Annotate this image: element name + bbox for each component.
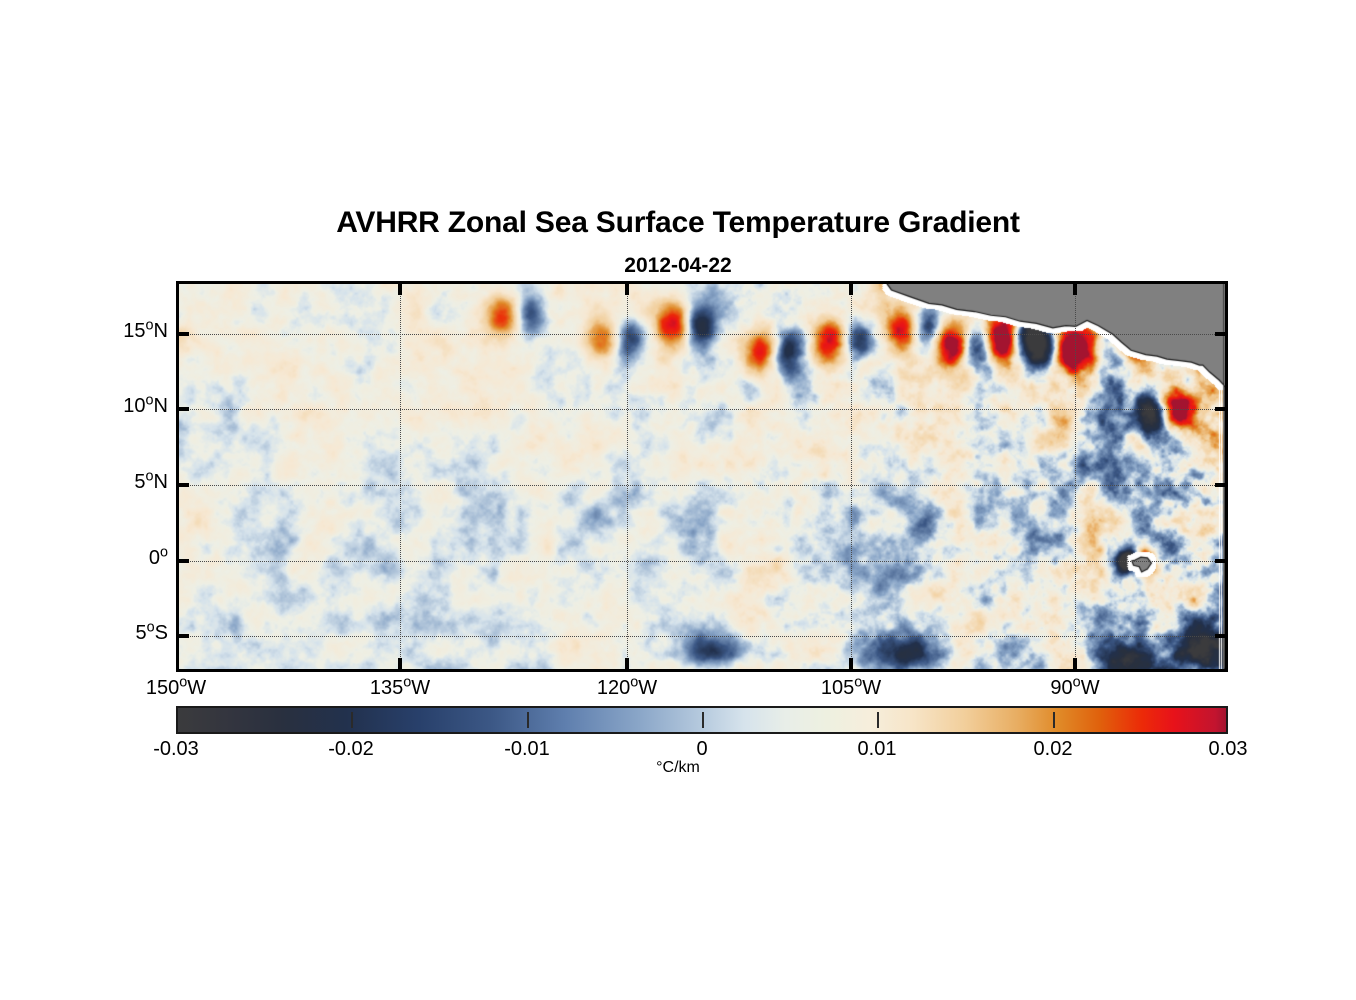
y-axis-tick-label-2: 5oN bbox=[48, 471, 168, 494]
gridline-latitude bbox=[179, 561, 1225, 562]
x-axis-tick bbox=[625, 658, 629, 672]
gridline-latitude bbox=[179, 409, 1225, 410]
figure-root: AVHRR Zonal Sea Surface Temperature Grad… bbox=[0, 0, 1356, 1000]
gridline-latitude bbox=[179, 636, 1225, 637]
y-axis-tick bbox=[176, 407, 189, 411]
y-axis-tick-label-0: 15oN bbox=[48, 320, 168, 343]
y-axis-tick bbox=[1215, 559, 1228, 563]
y-axis-tick bbox=[1215, 634, 1228, 638]
colorbar-tick-label-4: 0.01 bbox=[807, 738, 947, 761]
y-axis-tick bbox=[176, 634, 189, 638]
colorbar-unit-label: °C/km bbox=[0, 759, 1356, 777]
gridline-latitude bbox=[179, 485, 1225, 486]
y-axis-tick bbox=[176, 332, 189, 336]
map-plot-area bbox=[176, 281, 1228, 672]
colorbar bbox=[176, 706, 1228, 734]
y-axis-tick-label-1: 10oN bbox=[48, 395, 168, 418]
sst-gradient-heatmap bbox=[179, 284, 1225, 669]
x-axis-tick-label-3: 105oW bbox=[771, 677, 931, 700]
x-axis-tick bbox=[398, 281, 402, 295]
colorbar-tick-label-0: -0.03 bbox=[106, 738, 246, 761]
x-axis-tick bbox=[849, 658, 853, 672]
gridline-longitude bbox=[1075, 284, 1076, 669]
x-axis-tick bbox=[1073, 658, 1077, 672]
y-axis-tick bbox=[176, 483, 189, 487]
colorbar-tick bbox=[702, 712, 704, 728]
y-axis-tick bbox=[1215, 483, 1228, 487]
x-axis-tick bbox=[1073, 281, 1077, 295]
gridline-longitude bbox=[400, 284, 401, 669]
y-axis-tick-label-4: 5oS bbox=[48, 622, 168, 645]
page-subtitle: 2012-04-22 bbox=[0, 254, 1356, 278]
x-axis-tick-label-1: 135oW bbox=[320, 677, 480, 700]
y-axis-tick bbox=[1215, 332, 1228, 336]
x-axis-tick bbox=[849, 281, 853, 295]
colorbar-tick-label-6: 0.03 bbox=[1158, 738, 1298, 761]
page-title: AVHRR Zonal Sea Surface Temperature Grad… bbox=[0, 206, 1356, 240]
x-axis-tick-label-4: 90oW bbox=[995, 677, 1155, 700]
gridline-latitude bbox=[179, 334, 1225, 335]
colorbar-tick bbox=[527, 712, 529, 728]
y-axis-tick bbox=[1215, 407, 1228, 411]
gridline-longitude bbox=[627, 284, 628, 669]
x-axis-tick bbox=[625, 281, 629, 295]
colorbar-tick bbox=[351, 712, 353, 728]
colorbar-tick bbox=[877, 712, 879, 728]
y-axis-tick-label-3: 0o bbox=[48, 547, 168, 570]
colorbar-tick bbox=[1053, 712, 1055, 728]
x-axis-tick bbox=[398, 658, 402, 672]
gridline-longitude bbox=[851, 284, 852, 669]
colorbar-tick-label-3: 0 bbox=[632, 738, 772, 761]
colorbar-tick-label-1: -0.02 bbox=[281, 738, 421, 761]
x-axis-tick-label-2: 120oW bbox=[547, 677, 707, 700]
y-axis-tick bbox=[176, 559, 189, 563]
x-axis-tick-label-0: 150oW bbox=[96, 677, 256, 700]
colorbar-tick-label-2: -0.01 bbox=[457, 738, 597, 761]
colorbar-tick-label-5: 0.02 bbox=[983, 738, 1123, 761]
